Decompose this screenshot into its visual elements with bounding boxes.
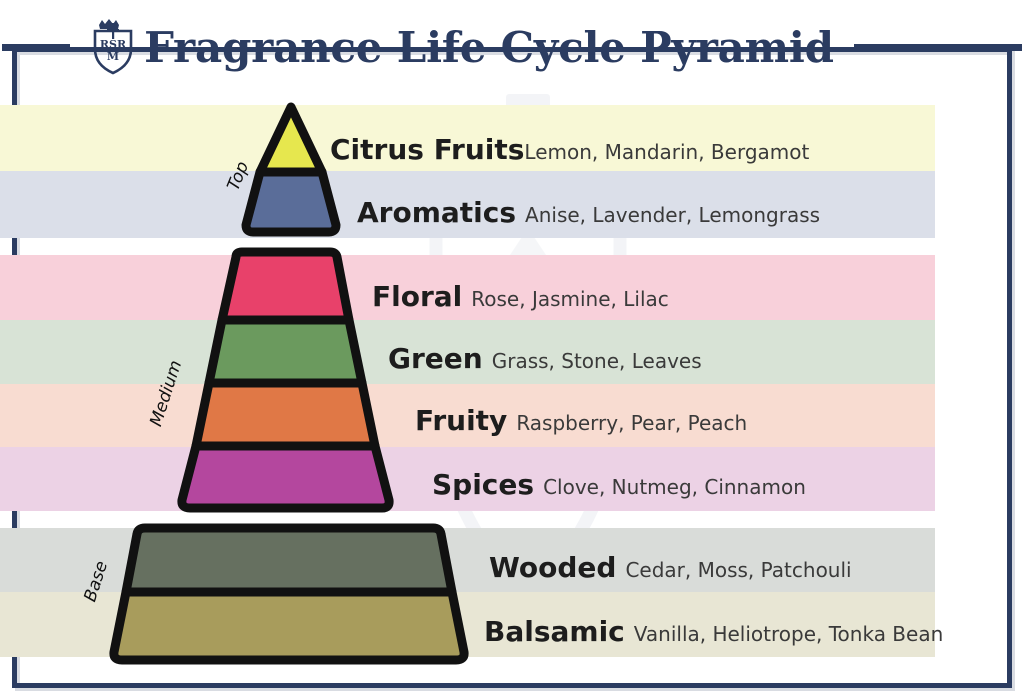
row-name: Citrus Fruits: [330, 133, 524, 166]
row-name: Spices: [432, 468, 534, 501]
row-name: Balsamic: [484, 615, 625, 648]
row-name: Wooded: [489, 551, 616, 584]
svg-text:M: M: [107, 50, 119, 63]
row-fruity[interactable]: FruityRaspberry, Pear, Peach: [415, 404, 747, 437]
row-citrus-fruits[interactable]: Citrus FruitsLemon, Mandarin, Bergamot: [330, 133, 809, 166]
row-name: Fruity: [415, 404, 507, 437]
row-notes: Rose, Jasmine, Lilac: [471, 287, 669, 311]
row-notes: Lemon, Mandarin, Bergamot: [524, 140, 809, 164]
row-green[interactable]: GreenGrass, Stone, Leaves: [388, 342, 702, 375]
row-name: Floral: [372, 280, 462, 313]
row-balsamic[interactable]: BalsamicVanilla, Heliotrope, Tonka Bean: [484, 615, 943, 648]
row-name: Aromatics: [357, 196, 516, 229]
row-notes: Raspberry, Pear, Peach: [516, 411, 747, 435]
title-rule-right: [854, 44, 1022, 51]
page-title: Fragrance Life Cycle Pyramid: [144, 27, 834, 69]
infographic-canvas: RSR M RSR M Fragrance Life Cycle Pyramid…: [0, 0, 1024, 700]
row-name: Green: [388, 342, 483, 375]
shield-crest-logo-icon: RSR M: [92, 17, 134, 75]
row-notes: Cedar, Moss, Patchouli: [625, 558, 851, 582]
row-notes: Clove, Nutmeg, Cinnamon: [543, 475, 806, 499]
title-rule-left: [2, 44, 70, 51]
row-notes: Anise, Lavender, Lemongrass: [525, 203, 820, 227]
row-spices[interactable]: SpicesClove, Nutmeg, Cinnamon: [432, 468, 806, 501]
row-aromatics[interactable]: AromaticsAnise, Lavender, Lemongrass: [357, 196, 820, 229]
row-wooded[interactable]: WoodedCedar, Moss, Patchouli: [489, 551, 852, 584]
row-floral[interactable]: FloralRose, Jasmine, Lilac: [372, 280, 669, 313]
row-notes: Grass, Stone, Leaves: [492, 349, 702, 373]
header: RSR M Fragrance Life Cycle Pyramid: [0, 0, 1024, 95]
row-notes: Vanilla, Heliotrope, Tonka Bean: [634, 622, 944, 646]
